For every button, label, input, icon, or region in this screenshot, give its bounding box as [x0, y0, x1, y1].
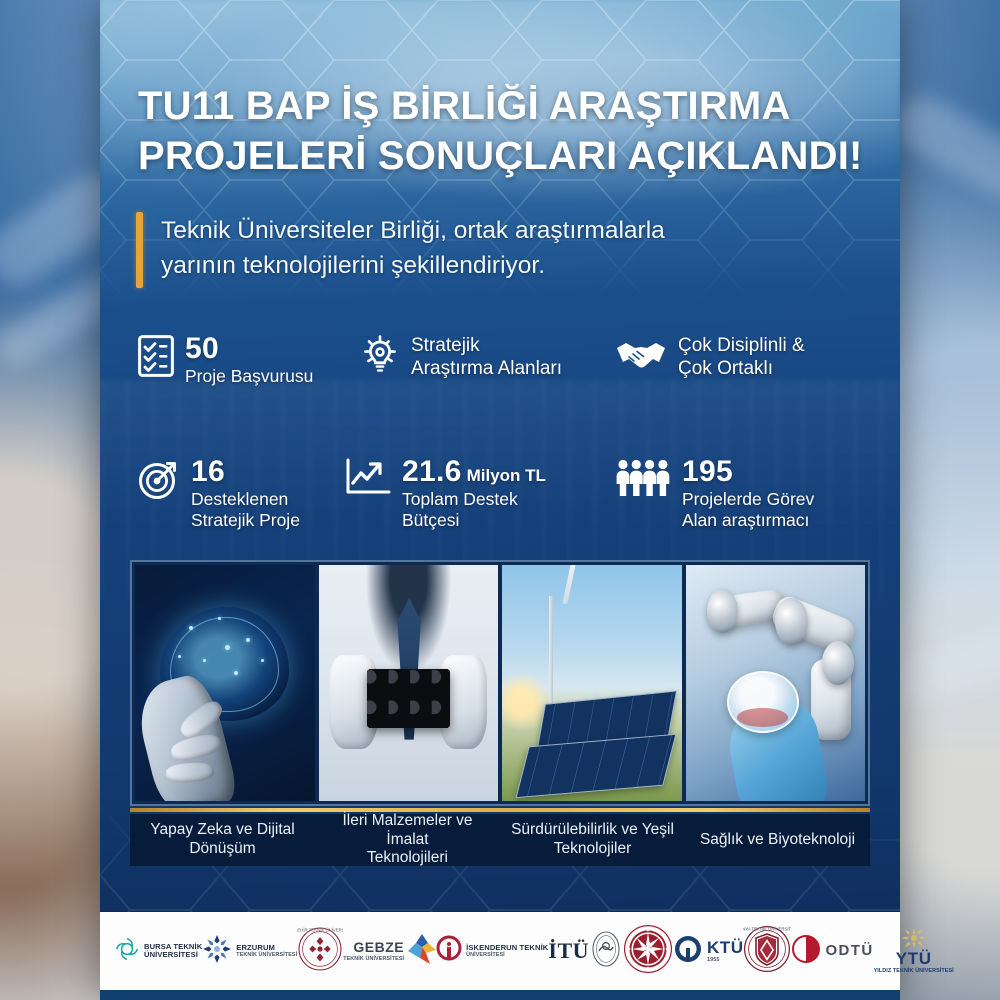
- stat-title-line-2: Araştırma Alanları: [411, 357, 562, 380]
- sivas-star-seal-logo-icon: [623, 924, 673, 979]
- photo-caption-4: Sağlık ve Biyoteknoloji: [685, 814, 870, 866]
- statistics-section: 50 Proje Başvurusu: [100, 332, 900, 531]
- svg-text:KONYA TEKNİK ÜNİVERSİTESİ: KONYA TEKNİK ÜNİVERSİTESİ: [743, 926, 791, 931]
- stat-title-line-1: Çok Disiplinli &: [678, 334, 805, 357]
- logo-karadeniz-seal-universitesi: [589, 921, 623, 981]
- lightbulb-idea-icon: [360, 332, 400, 377]
- stat-stratejik-arastirma-alanlari: Stratejik Araştırma Alanları: [360, 332, 615, 387]
- photo-caption-1: Yapay Zeka ve Dijital Dönüşüm: [130, 814, 315, 866]
- caption-line-1: Sürdürülebilirlik ve Yeşil: [511, 821, 674, 838]
- logo-erzurum-label: ERZURUM TEKNİK ÜNİVERSİTESİ: [236, 944, 297, 959]
- robot-joint: [707, 589, 738, 634]
- iskenderun-logo-icon: [436, 935, 462, 968]
- stat-label-line-1: Desteklenen: [191, 489, 300, 510]
- photo-caption-3: Sürdürülebilirlik ve Yeşil Teknolojiler: [500, 814, 685, 866]
- stat-cok-disiplinli-cok-ortakli: Çok Disiplinli & Çok Ortaklı: [615, 332, 900, 387]
- petri-dish: [727, 671, 799, 732]
- bursa-teknik-logo-icon: [114, 936, 140, 967]
- caption-line-1: Sağlık ve Biyoteknoloji: [700, 831, 855, 850]
- logo-big: ODTÜ: [825, 943, 873, 960]
- logo-itu-label: İTÜ: [548, 939, 589, 964]
- logo-sub: TEKNİK ÜNİVERSİTESİ: [343, 956, 404, 962]
- logo-yildiz-teknik-universitesi: YTÜ YILDIZ TEKNİK ÜNİVERSİTESİ: [874, 921, 954, 981]
- stat-text: 21.6Milyon TL Toplam Destek Bütçesi: [402, 455, 546, 531]
- headline-line-2: PROJELERİ SONUÇLARI AÇIKLANDI!: [138, 132, 868, 182]
- logo-line-1: ERZURUM: [236, 943, 275, 952]
- growth-chart-icon: [345, 455, 391, 498]
- ai-brain-robot-hand-photo: [135, 565, 315, 801]
- page-title: TU11 BAP İŞ BİRLİĞİ ARAŞTIRMA PROJELERİ …: [138, 82, 868, 181]
- logo-erzurum-teknik-universitesi: ERZURUM TEKNİK ÜNİVERSİTESİ: [202, 921, 297, 981]
- stat-unit: Milyon TL: [467, 466, 546, 485]
- turbine-mast: [549, 596, 554, 705]
- karadeniz-seal-logo-icon: [589, 929, 623, 974]
- logo-sub: YILDIZ TEKNİK ÜNİVERSİTESİ: [874, 968, 954, 974]
- stat-row-2: 16 Desteklenen Stratejik Proje 21.6Milyo…: [100, 455, 900, 531]
- target-arrow-icon: [138, 455, 180, 500]
- logo-ytu-label: YTÜ YILDIZ TEKNİK ÜNİVERSİTESİ: [874, 927, 954, 974]
- logo-odtu-label: ODTÜ: [825, 943, 873, 960]
- checklist-icon: [138, 332, 174, 377]
- stat-number: 16: [191, 455, 225, 488]
- stat-text: 50 Proje Başvurusu: [185, 332, 313, 387]
- stat-number: 50: [185, 332, 219, 365]
- stat-label-line-2: Stratejik Proje: [191, 510, 300, 531]
- subtitle-block: Teknik Üniversiteler Birliği, ortak araş…: [136, 212, 866, 288]
- stat-row-1: 50 Proje Başvurusu: [100, 332, 900, 387]
- logo-sivas-teknik-universitesi: [623, 921, 673, 981]
- caption-line-2: Teknolojiler: [554, 840, 632, 857]
- gebze-flame-logo-icon: [408, 934, 436, 969]
- svg-text:ESKİŞEHİR TEKNİK ÜNİVERSİTESİ: ESKİŞEHİR TEKNİK ÜNİVERSİTESİ: [297, 927, 343, 932]
- university-logo-bar: BURSA TEKNİK ÜNİVERSİTESİ: [100, 912, 900, 990]
- caption-line-2: Dönüşüm: [189, 840, 255, 857]
- stat-text: Çok Disiplinli & Çok Ortaklı: [678, 332, 805, 380]
- stat-label-line-1: Toplam Destek: [402, 489, 546, 510]
- stat-text: 16 Desteklenen Stratejik Proje: [191, 455, 300, 531]
- logo-ktu-label: KTÜ 1955: [707, 938, 743, 963]
- odtu-logo-icon: [791, 934, 821, 969]
- logo-line-2: ÜNİVERSİTESİ: [144, 950, 198, 959]
- logo-sub: ÜNİVERSİTESİ: [466, 952, 548, 958]
- bottom-strip: [100, 990, 900, 1000]
- logo-sub: TEKNİK ÜNİVERSİTESİ: [236, 952, 297, 958]
- logo-big: İTÜ: [548, 939, 589, 964]
- infographic-poster: TU11 BAP İŞ BİRLİĞİ ARAŞTIRMA PROJELERİ …: [100, 0, 900, 1000]
- logo-big: YTÜ: [874, 949, 954, 968]
- stat-title-line-1: Stratejik: [411, 334, 562, 357]
- photo-caption-2: İleri Malzemeler ve İmalat Teknolojileri: [315, 814, 500, 866]
- biotech-petri-dish-robot-photo: [686, 565, 866, 801]
- logo-konya-teknik-universitesi: KONYA TEKNİK ÜNİVERSİTESİ: [743, 921, 791, 981]
- advanced-materials-photo: [319, 565, 499, 801]
- logo-sub: 1955: [707, 957, 743, 963]
- stat-label-line-2: Alan araştırmacı: [682, 510, 814, 531]
- stat-proje-basvurusu: 50 Proje Başvurusu: [100, 332, 360, 387]
- eskisehir-seal-logo-icon: ESKİŞEHİR TEKNİK ÜNİVERSİTESİ: [297, 926, 343, 977]
- stat-label-line-2: Bütçesi: [402, 510, 546, 531]
- stat-toplam-destek-butcesi: 21.6Milyon TL Toplam Destek Bütçesi: [345, 455, 615, 531]
- logo-gebze-label: GEBZE TEKNİK ÜNİVERSİTESİ: [343, 940, 404, 962]
- photo-strip: [130, 560, 870, 806]
- yildiz-star-logo-icon: [874, 927, 954, 949]
- logo-bursa-teknik-universitesi: BURSA TEKNİK ÜNİVERSİTESİ: [114, 921, 202, 981]
- people-group-icon: [615, 455, 671, 498]
- stat-text: 195 Projelerde Görev Alan araştırmacı: [682, 455, 814, 531]
- stat-text: Stratejik Araştırma Alanları: [411, 332, 562, 380]
- logo-big: KTÜ: [707, 938, 743, 957]
- stat-desteklenen-stratejik-proje: 16 Desteklenen Stratejik Proje: [100, 455, 345, 531]
- logo-eskisehir-teknik-universitesi: ESKİŞEHİR TEKNİK ÜNİVERSİTESİ: [297, 921, 343, 981]
- headline-line-1: TU11 BAP İŞ BİRLİĞİ ARAŞTIRMA: [138, 82, 868, 132]
- wind-turbine-solar-panel-photo: [502, 565, 682, 801]
- stat-label-line-1: Projelerde Görev: [682, 489, 814, 510]
- logo-iskenderun-teknik-universitesi: İSKENDERUN TEKNİK ÜNİVERSİTESİ: [436, 921, 548, 981]
- ktu-monogram-logo-icon: [673, 934, 703, 969]
- logo-line-1: GEBZE: [343, 940, 404, 956]
- stat-number: 195: [682, 455, 733, 488]
- konya-seal-logo-icon: KONYA TEKNİK ÜNİVERSİTESİ: [743, 925, 791, 978]
- stat-number: 21.6: [402, 455, 462, 488]
- caption-line-1: İleri Malzemeler ve İmalat: [342, 812, 472, 848]
- stat-label-line: Proje Başvurusu: [185, 366, 313, 387]
- logo-gebze-teknik-universitesi: GEBZE TEKNİK ÜNİVERSİTESİ: [343, 921, 436, 981]
- accent-bar: [136, 212, 143, 288]
- erzurum-snowflake-logo-icon: [202, 934, 232, 969]
- stat-projelerde-gorev-alan-arastirmaci: 195 Projelerde Görev Alan araştırmacı: [615, 455, 900, 531]
- turbine-blade: [562, 565, 580, 604]
- subtitle-line-1: Teknik Üniversiteler Birliği, ortak araş…: [161, 214, 665, 249]
- subtitle-text: Teknik Üniversiteler Birliği, ortak araş…: [161, 212, 665, 288]
- robot-joint: [775, 598, 807, 645]
- caption-line-2: Teknolojileri: [367, 849, 448, 866]
- gold-divider: [130, 808, 870, 812]
- stat-title-line-2: Çok Ortaklı: [678, 357, 805, 380]
- subtitle-line-2: yarının teknolojilerini şekillendiriyor.: [161, 249, 665, 284]
- handshake-icon: [615, 332, 667, 375]
- caption-line-1: Yapay Zeka ve Dijital: [150, 821, 294, 838]
- photo-captions: Yapay Zeka ve Dijital Dönüşüm İleri Malz…: [130, 814, 870, 866]
- logo-bursa-label: BURSA TEKNİK ÜNİVERSİTESİ: [144, 943, 202, 960]
- logo-istanbul-teknik-universitesi: İTÜ: [548, 921, 589, 981]
- honeycomb-material-sample: [367, 669, 450, 728]
- logo-iskenderun-label: İSKENDERUN TEKNİK ÜNİVERSİTESİ: [466, 944, 548, 959]
- logo-odtu-universitesi: ODTÜ: [791, 921, 873, 981]
- logo-karadeniz-teknik-universitesi: KTÜ 1955: [673, 921, 743, 981]
- logo-line-1: İSKENDERUN TEKNİK: [466, 943, 548, 952]
